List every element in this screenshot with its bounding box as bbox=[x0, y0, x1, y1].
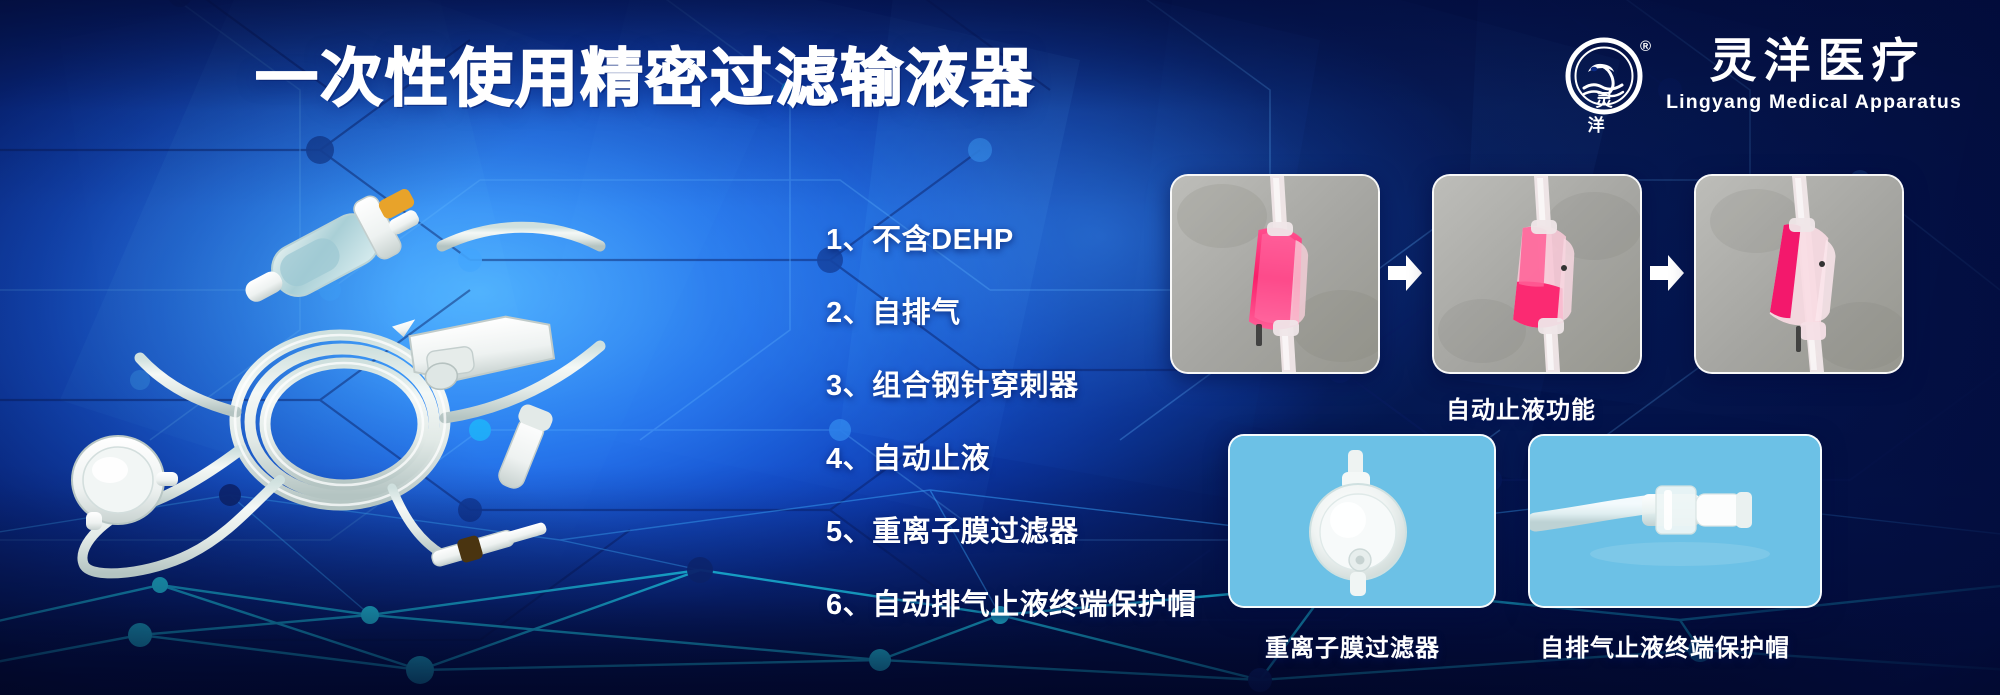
right-arrow-icon-1 bbox=[1388, 255, 1422, 291]
detail-panel-filter bbox=[1228, 434, 1496, 608]
product-photo bbox=[40, 150, 660, 580]
feature-item-2: 2、自排气 bbox=[826, 299, 1197, 328]
banner-title: 一次性使用精密过滤输液器 bbox=[255, 48, 1035, 111]
feature-list: 1、不含DEHP 2、自排气 3、组合钢针穿刺器 4、自动止液 5、重离子膜过滤… bbox=[826, 226, 1197, 620]
feature-item-4: 4、自动止液 bbox=[826, 445, 1197, 474]
right-arrow-icon-2 bbox=[1650, 255, 1684, 291]
detail-caption-filter: 重离子膜过滤器 bbox=[1265, 628, 1440, 663]
sequence-panel-1 bbox=[1170, 174, 1380, 374]
lingyang-circular-logo-icon: ® 灵洋 bbox=[1564, 36, 1644, 116]
feature-item-1: 1、不含DEHP bbox=[826, 226, 1197, 255]
product-banner: 一次性使用精密过滤输液器 ® 灵洋 灵洋医疗 Lingyang Medical … bbox=[0, 0, 2000, 695]
detail-panel-protector-cap bbox=[1528, 434, 1822, 608]
feature-item-6: 6、自动排气止液终端保护帽 bbox=[826, 591, 1197, 620]
company-name-en: Lingyang Medical Apparatus bbox=[1666, 91, 1962, 114]
feature-item-3: 3、组合钢针穿刺器 bbox=[826, 372, 1197, 401]
registered-trademark-icon: ® bbox=[1640, 38, 1651, 55]
sequence-panel-3 bbox=[1694, 174, 1904, 374]
company-logo: ® 灵洋 灵洋医疗 Lingyang Medical Apparatus bbox=[1564, 36, 1962, 116]
detail-caption-protector-cap: 自排气止液终端保护帽 bbox=[1540, 628, 1790, 663]
logo-mark-subtext: 灵洋 bbox=[1564, 86, 1644, 136]
feature-item-5: 5、重离子膜过滤器 bbox=[826, 518, 1197, 547]
sequence-panel-2 bbox=[1432, 174, 1642, 374]
logo-text-block: 灵洋医疗 Lingyang Medical Apparatus bbox=[1666, 38, 1962, 113]
sequence-caption: 自动止液功能 bbox=[1446, 390, 1596, 425]
company-name-cn: 灵洋医疗 bbox=[1703, 38, 1926, 87]
